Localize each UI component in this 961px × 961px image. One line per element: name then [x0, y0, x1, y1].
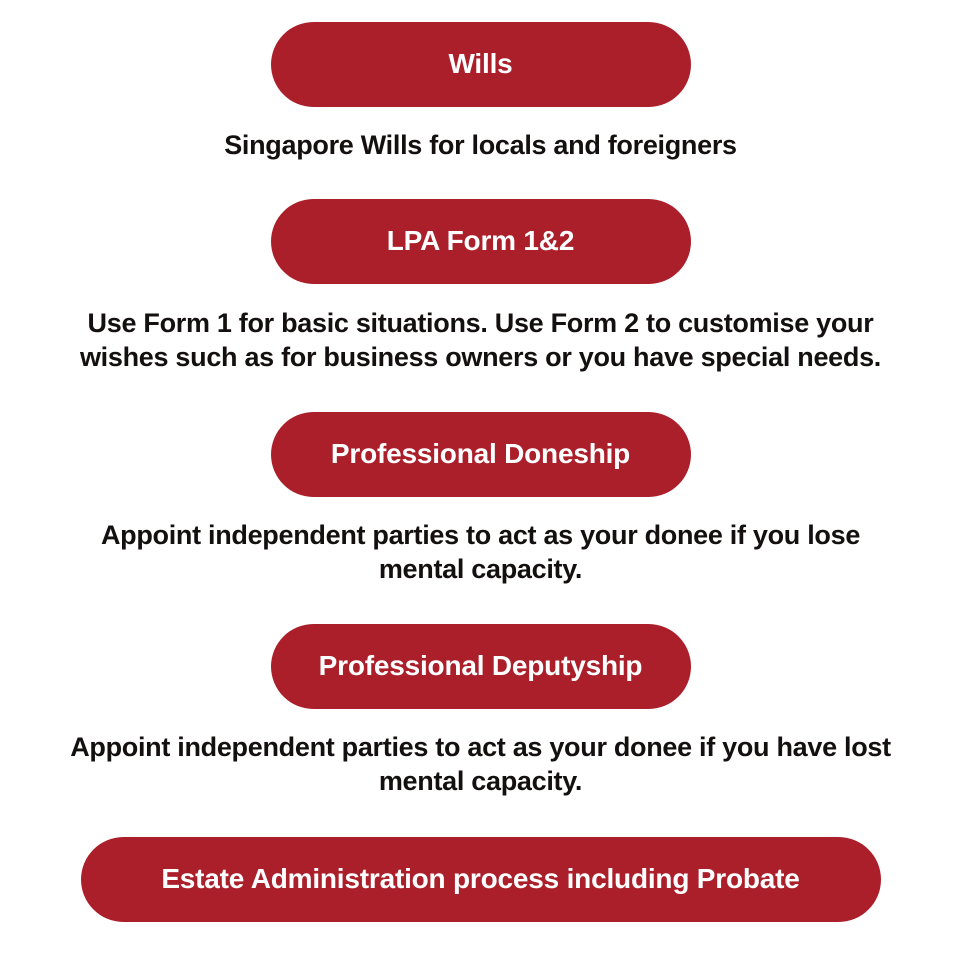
caption-professional-deputyship: Appoint independent parties to act as yo…: [63, 730, 899, 798]
pill-button-professional-deputyship[interactable]: Professional Deputyship: [271, 624, 691, 709]
flow-step-professional-doneship: Professional Doneship Appoint independen…: [0, 412, 961, 586]
pill-button-professional-doneship[interactable]: Professional Doneship: [271, 412, 691, 497]
flow-step-lpa-form: LPA Form 1&2 Use Form 1 for basic situat…: [0, 199, 961, 374]
caption-lpa-form: Use Form 1 for basic situations. Use For…: [63, 306, 899, 374]
pill-button-lpa-form[interactable]: LPA Form 1&2: [271, 199, 691, 284]
flow-step-professional-deputyship: Professional Deputyship Appoint independ…: [0, 624, 961, 798]
services-flow-list: Wills Singapore Wills for locals and for…: [0, 0, 961, 961]
pill-button-estate-administration[interactable]: Estate Administration process including …: [81, 837, 881, 922]
flow-step-wills: Wills Singapore Wills for locals and for…: [0, 22, 961, 162]
flow-step-estate-administration: Estate Administration process including …: [0, 837, 961, 922]
caption-wills: Singapore Wills for locals and foreigner…: [224, 128, 737, 162]
pill-button-wills[interactable]: Wills: [271, 22, 691, 107]
caption-professional-doneship: Appoint independent parties to act as yo…: [63, 518, 899, 586]
